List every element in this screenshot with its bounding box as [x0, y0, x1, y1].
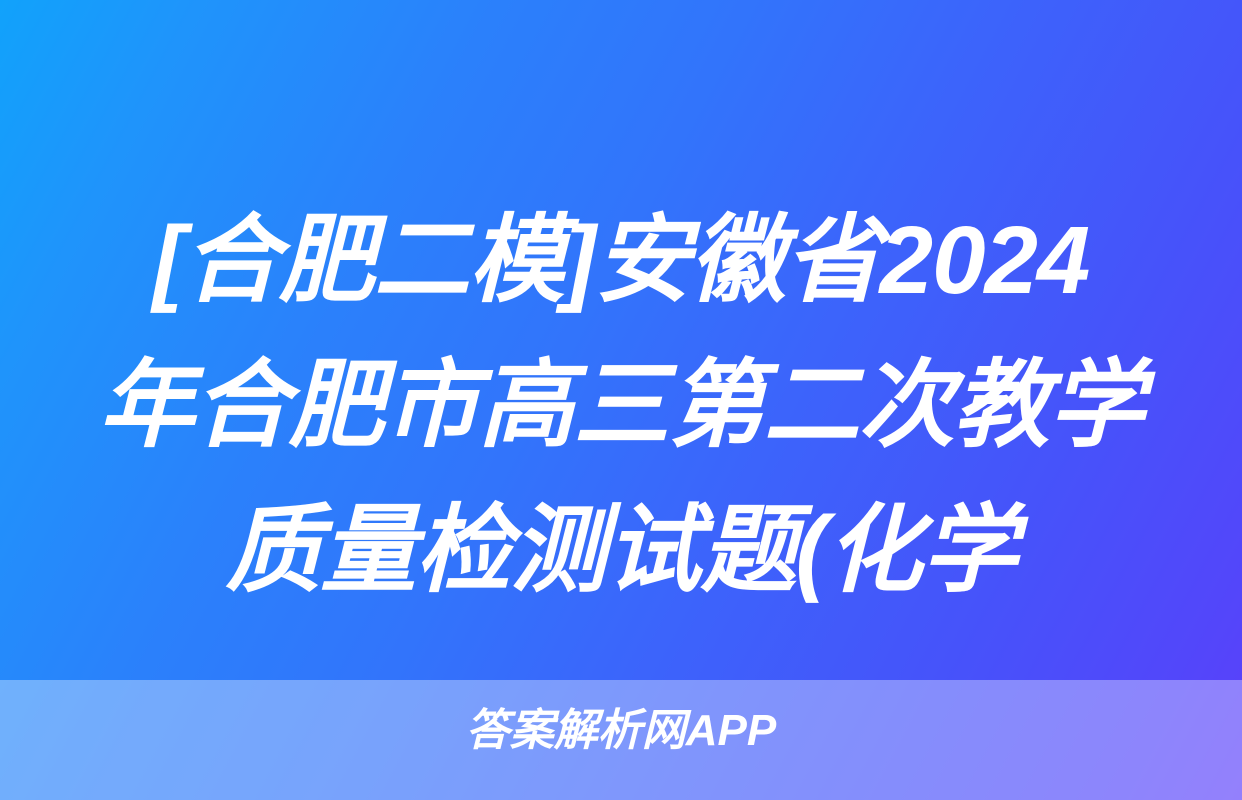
poster-canvas: [合肥二模]安徽省2024 年合肥市高三第二次教学 质量检测试题(化学 答案解析…	[0, 0, 1242, 800]
page-title: [合肥二模]安徽省2024 年合肥市高三第二次教学 质量检测试题(化学	[0, 188, 1242, 623]
title-line-3: 质量检测试题(化学	[40, 478, 1202, 623]
watermark: 答案解析网APP	[0, 703, 1242, 759]
watermark-label: 答案解析网APP	[466, 703, 776, 759]
title-line-1: [合肥二模]安徽省2024	[40, 188, 1202, 333]
title-line-2: 年合肥市高三第二次教学	[40, 333, 1202, 478]
